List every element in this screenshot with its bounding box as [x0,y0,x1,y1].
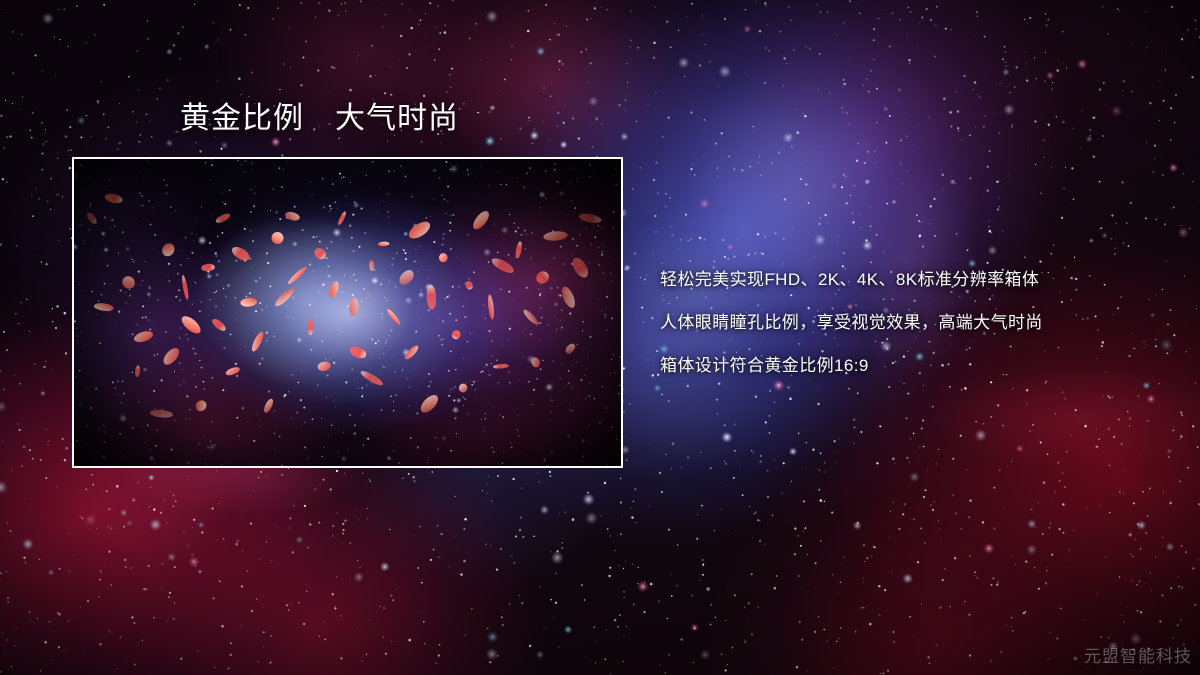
preview-image-frame[interactable] [72,157,623,468]
page-title: 黄金比例 大气时尚 [180,101,459,137]
copy-line-2: 人体眼睛瞳孔比例，享受视觉效果，高端大气时尚 [660,301,1190,344]
slide-canvas: 黄金比例 大气时尚 [0,0,1200,675]
preview-vignette [74,159,621,466]
preview-image-content [74,159,621,466]
watermark: 元盟智能科技 [1084,642,1192,667]
copy-line-1: 轻松完美实现FHD、2K、4K、8K标准分辨率箱体 [660,258,1190,301]
copy-line-3: 箱体设计符合黄金比例16:9 [660,344,1190,387]
body-copy: 轻松完美实现FHD、2K、4K、8K标准分辨率箱体 人体眼睛瞳孔比例，享受视觉效… [660,258,1190,387]
